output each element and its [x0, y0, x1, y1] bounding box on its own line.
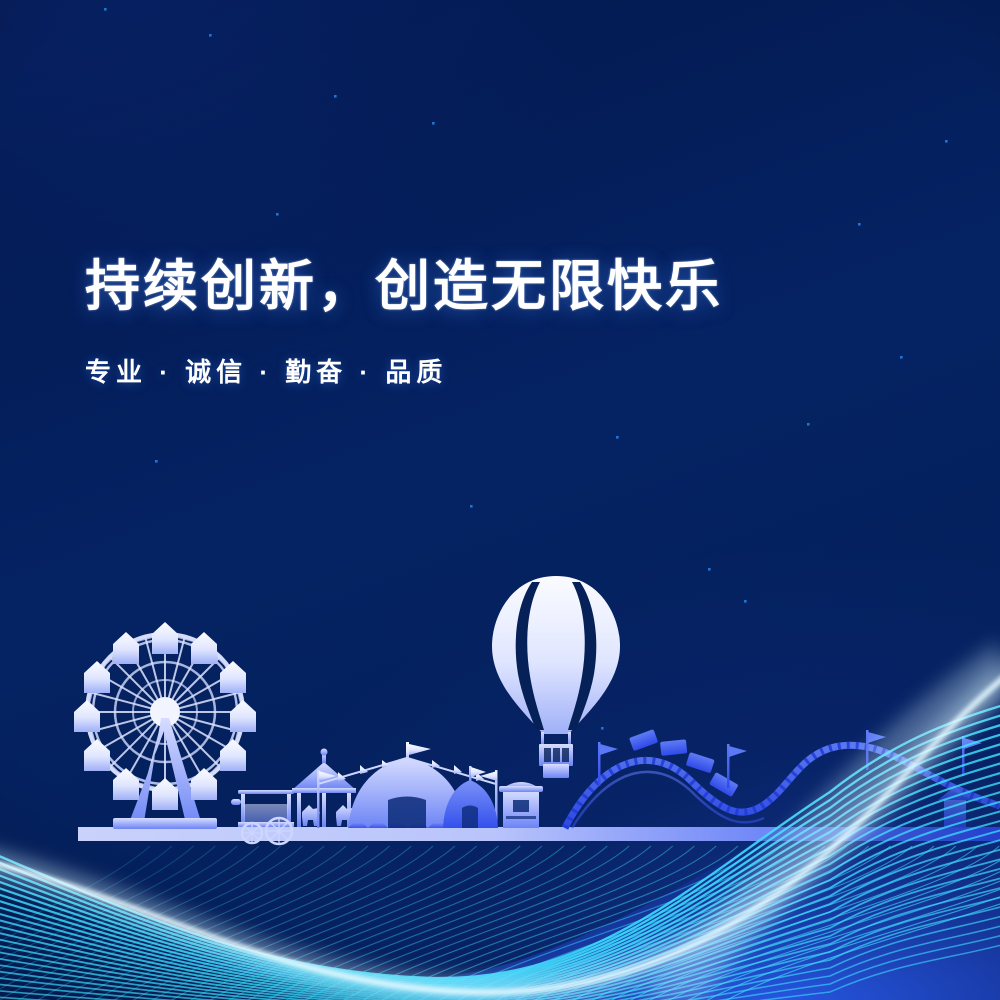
- page-title: 持续创新，创造无限快乐: [85, 258, 925, 316]
- headline-block: 持续创新，创造无限快乐专业 · 诚信 · 勤奋 · 品质: [85, 258, 925, 389]
- glowing-wave-mesh: [0, 0, 1000, 1000]
- tagline: 专业 · 诚信 · 勤奋 · 品质: [85, 352, 925, 389]
- poster-canvas: 持续创新，创造无限快乐专业 · 诚信 · 勤奋 · 品质: [0, 0, 1000, 1000]
